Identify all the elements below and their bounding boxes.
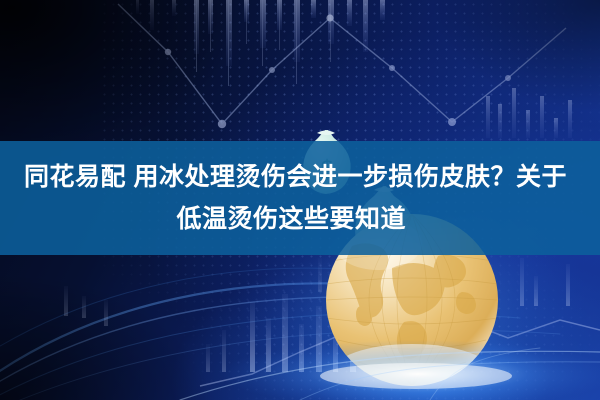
headline-line-1: 同花易配 用冰处理烫伤会进一步损伤皮肤？关于 bbox=[20, 156, 580, 198]
article-banner: $ bbox=[0, 0, 600, 400]
headline-text-block: 同花易配 用冰处理烫伤会进一步损伤皮肤？关于 低温烫伤这些要知道 bbox=[0, 141, 600, 255]
headline-line-2: 低温烫伤这些要知道 bbox=[20, 198, 580, 240]
